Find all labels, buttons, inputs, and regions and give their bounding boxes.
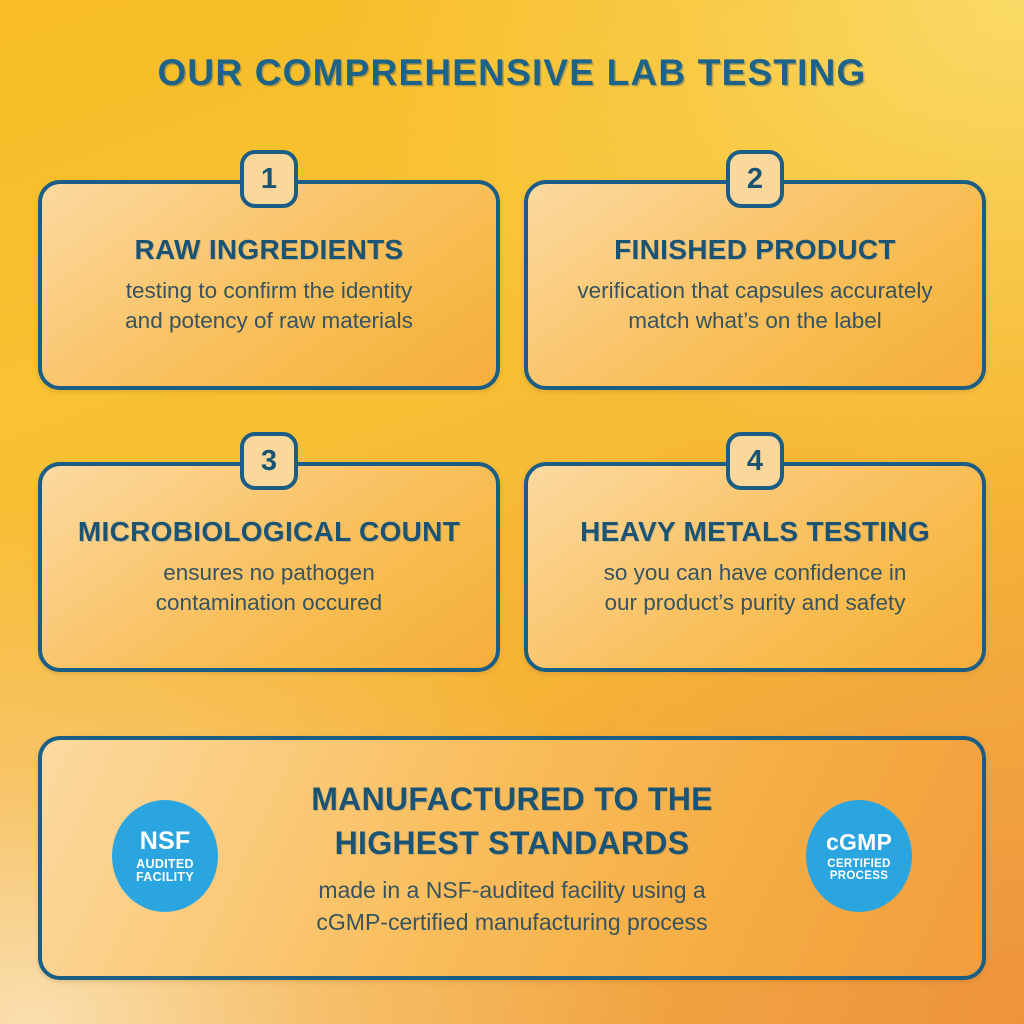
step-number-badge-1: 1 [240,150,298,208]
card-1-body-line-1: testing to confirm the identity [125,276,413,306]
nsf-seal-sub-line-2: FACILITY [136,871,194,885]
lab-test-card-1: RAW INGREDIENTS testing to confirm the i… [38,180,500,390]
card-1-heading: RAW INGREDIENTS [135,234,404,266]
card-3-body-line-1: ensures no pathogen [156,558,382,588]
card-4-body-line-1: so you can have confidence in [604,558,907,588]
banner-text-block: MANUFACTURED TO THE HIGHEST STANDARDS ma… [232,777,792,939]
card-3-body-line-2: contamination occured [156,588,382,618]
card-2-content: FINISHED PRODUCT verification that capsu… [528,184,982,386]
step-number-badge-2: 2 [726,150,784,208]
cgmp-certified-process-seal-icon: cGMP CERTIFIED PROCESS [806,800,912,912]
banner-heading-line-2: HIGHEST STANDARDS [311,821,713,865]
card-1-content: RAW INGREDIENTS testing to confirm the i… [42,184,496,386]
cgmp-seal-sub-line-2: PROCESS [830,870,888,882]
nsf-seal-sub-line-1: AUDITED [136,858,194,872]
banner-body-line-1: made in a NSF-audited facility using a [316,875,707,907]
card-4-heading: HEAVY METALS TESTING [580,516,930,548]
card-2-body-line-2: match what’s on the label [577,306,932,336]
cgmp-seal-main-label: cGMP [826,830,892,855]
lab-test-card-3: MICROBIOLOGICAL COUNT ensures no pathoge… [38,462,500,672]
cgmp-seal-sub-line-1: CERTIFIED [827,858,890,870]
lab-test-card-2: FINISHED PRODUCT verification that capsu… [524,180,986,390]
card-2-heading: FINISHED PRODUCT [614,234,896,266]
infographic-root: OUR COMPREHENSIVE LAB TESTING RAW INGRED… [0,0,1024,1024]
card-2-body: verification that capsules accurately ma… [577,276,932,336]
step-number-badge-3: 3 [240,432,298,490]
card-3-body: ensures no pathogen contamination occure… [156,558,382,618]
step-number-badge-4: 4 [726,432,784,490]
card-1-body-line-2: and potency of raw materials [125,306,413,336]
banner-body-line-2: cGMP-certified manufacturing process [316,907,707,939]
card-4-content: HEAVY METALS TESTING so you can have con… [528,466,982,668]
card-4-body-line-2: our product’s purity and safety [604,588,907,618]
nsf-seal-main-label: NSF [140,828,191,855]
card-1-body: testing to confirm the identity and pote… [125,276,413,336]
lab-test-card-4: HEAVY METALS TESTING so you can have con… [524,462,986,672]
card-4-body: so you can have confidence in our produc… [604,558,907,618]
page-title: OUR COMPREHENSIVE LAB TESTING [0,52,1024,94]
banner-body: made in a NSF-audited facility using a c… [316,875,707,938]
card-3-heading: MICROBIOLOGICAL COUNT [78,516,460,548]
banner-heading: MANUFACTURED TO THE HIGHEST STANDARDS [311,777,713,865]
card-2-body-line-1: verification that capsules accurately [577,276,932,306]
nsf-audited-facility-seal-icon: NSF AUDITED FACILITY [112,800,218,912]
banner-heading-line-1: MANUFACTURED TO THE [311,777,713,821]
card-3-content: MICROBIOLOGICAL COUNT ensures no pathoge… [42,466,496,668]
